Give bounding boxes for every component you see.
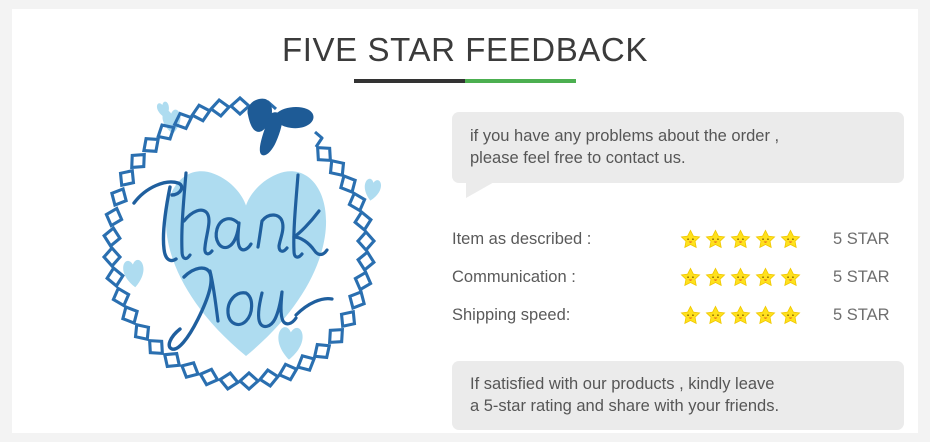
star-icon [680,229,701,250]
star-icon [730,267,751,288]
star-icon [730,229,751,250]
rating-value: 5 STAR [833,268,890,287]
rating-value: 5 STAR [833,306,890,325]
star-rating-group [680,229,808,250]
rating-row-item-as-described: Item as described : [452,220,904,258]
star-icon [755,229,776,250]
star-icon [780,305,801,326]
star-icon [780,229,801,250]
star-icon [755,267,776,288]
banner-card: FIVE STAR FEEDBACK [12,9,918,433]
star-icon [705,267,726,288]
contact-bubble-tail [466,181,496,198]
contact-bubble: if you have any problems about the order… [452,112,904,183]
thank-you-wreath-illustration [60,87,420,425]
rating-row-shipping-speed: Shipping speed: [452,296,904,334]
title-underline [354,79,576,83]
star-icon [705,305,726,326]
center-heart [166,171,326,356]
satisfaction-note-line-2: a 5-star rating and share with your frie… [470,395,888,417]
rating-label: Shipping speed: [452,306,680,325]
star-icon [680,267,701,288]
contact-bubble-line-1: if you have any problems about the order… [470,125,888,147]
bow-icon [247,99,313,156]
satisfaction-note: If satisfied with our products , kindly … [452,361,904,430]
title-underline-dark-segment [354,79,465,83]
star-icon [705,229,726,250]
star-rating-group [680,267,808,288]
star-icon [680,305,701,326]
star-icon [730,305,751,326]
feedback-banner: FIVE STAR FEEDBACK [0,0,930,442]
star-rating-group [680,305,808,326]
star-icon [780,267,801,288]
contact-bubble-line-2: please feel free to contact us. [470,147,888,169]
rating-value: 5 STAR [833,230,890,249]
page-title: FIVE STAR FEEDBACK [12,9,918,70]
rating-row-communication: Communication : [452,258,904,296]
rating-label: Item as described : [452,230,680,249]
star-icon [755,305,776,326]
title-underline-green-segment [465,79,576,83]
satisfaction-note-line-1: If satisfied with our products , kindly … [470,373,888,395]
header: FIVE STAR FEEDBACK [12,9,918,83]
feedback-details: if you have any problems about the order… [452,112,904,430]
contact-bubble-body: if you have any problems about the order… [452,112,904,183]
ratings-list: Item as described : [452,220,904,334]
rating-label: Communication : [452,268,680,287]
